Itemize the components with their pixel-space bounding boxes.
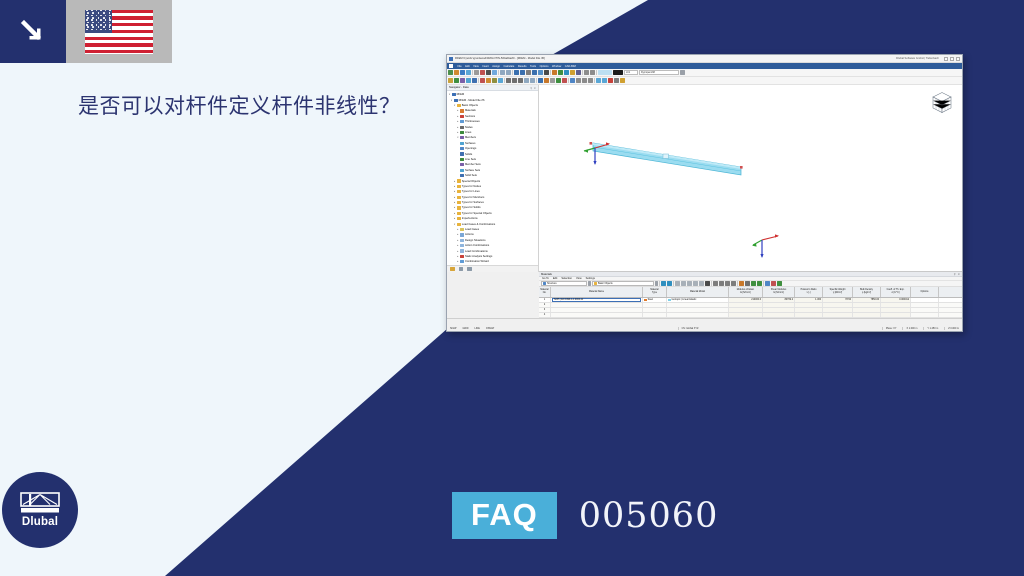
table-cell[interactable] [763,303,795,307]
toolbar2-icon-rotate[interactable] [512,78,517,83]
table-icon-export[interactable] [705,281,710,286]
menu-cadbim[interactable]: CAD-BIM [565,65,576,68]
table-icon-prev[interactable] [719,281,724,286]
navigator-item-icon [457,212,461,215]
toolbar-icon-printpreview[interactable] [480,70,485,75]
toolbar2-icon-member[interactable] [460,78,465,83]
table-cell[interactable] [551,313,643,317]
navigator-item-icon [454,99,458,102]
toolbar2-icon-osnap[interactable] [588,78,593,83]
toolbar2-icon-section[interactable] [538,78,543,83]
menu-results[interactable]: Results [518,65,527,68]
grid-column-header[interactable]: MaterialType [643,287,667,297]
toolbar-icon-new[interactable] [448,70,453,75]
navigator-item-label: Types for Nodes [462,185,481,188]
toolbar2-icon-snap[interactable] [576,78,581,83]
navigator-item-label: Line Sets [465,158,476,161]
navigator-item-icon [460,158,464,161]
expander-icon[interactable]: ▸ [453,212,456,215]
navigator-item-label: Types for Lines [462,190,480,193]
expander-icon[interactable]: ▾ [453,104,456,107]
close-icon[interactable]: ✕ [534,86,536,90]
table-menu-settings[interactable]: Settings [586,277,595,280]
menu-options[interactable]: Options [540,65,549,68]
table-icon-next[interactable] [725,281,730,286]
status-x: X 1.000 m [902,327,917,330]
toolbar2-icon-move[interactable] [506,78,511,83]
expander-icon[interactable]: ▸ [456,131,459,134]
table-icon-split[interactable] [699,281,704,286]
toolbar-icon-report[interactable] [492,70,497,75]
navigator-item-icon [457,217,461,220]
toolbar-separator [550,70,551,75]
loadcase-name-combo[interactable]: Dypropend/M [639,70,679,75]
grid-column-header[interactable]: MaterialNo. [539,287,551,297]
expander-icon[interactable]: ▸ [456,239,459,242]
grid-column-header[interactable]: Material Model [667,287,729,297]
status-grid[interactable]: GRID [463,327,469,330]
table-cell[interactable]: 78.50 [823,298,853,302]
status-y: Y 1.250 m [923,327,938,330]
table-icon-excel[interactable] [777,281,782,286]
app-statusbar: SNAP GRID LINE OSNAP CS: Global XYZ Plan… [447,318,962,331]
material-model-swatch [668,299,671,302]
navigator-item-icon [460,169,464,172]
expander-icon[interactable]: ▸ [453,190,456,193]
navigator-item-icon [460,152,464,155]
navigator-item-icon [457,201,461,204]
toolbar2-icon-visibility[interactable] [596,78,601,83]
toolbar2-icon-nodal-load[interactable] [498,78,503,83]
table-cell[interactable] [729,308,763,312]
navigator-item-label: Static Analysis Settings [465,255,492,258]
expander-icon[interactable]: ▸ [456,244,459,247]
menu-insert[interactable]: Insert [482,65,489,68]
navigator-item-icon [460,126,464,129]
toolbar2-icon-ortho[interactable] [582,78,587,83]
navigator-item-icon [460,239,464,242]
object-type-value: Structure [547,282,557,285]
navigator-item-icon [460,244,464,247]
global-axis-triad [751,233,781,260]
grid-column-header[interactable]: Comment [939,287,963,297]
toolbar-icon-wireframe[interactable] [538,70,543,75]
table-cell[interactable] [763,308,795,312]
faq-badge: FAQ [452,492,557,539]
grid-column-header[interactable]: Coeff. of Th. Exp.α [1/°C] [881,287,911,297]
expander-icon[interactable]: ▸ [456,250,459,253]
navigator-item-label: Member Sets [465,163,481,166]
app-title-text: RFEM 6 [work:\gruntwood\00/0LOTIN-5/DiaD… [455,57,894,60]
table-icon-edit-row[interactable] [739,281,744,286]
table-menu-selection[interactable]: Selection [561,277,572,280]
table-cell[interactable] [881,303,911,307]
grid-column-header[interactable]: Bulk Densityρ [kg/m³] [853,287,881,297]
object-set-dropdown-icon[interactable] [655,281,658,286]
navigator-item-icon [457,206,461,209]
toolbar-icon-measure[interactable] [584,70,589,75]
table-cell[interactable] [643,303,667,307]
toolbar-icon-view-top[interactable] [526,70,531,75]
grid-column-header[interactable]: Specific Weightγ [kN/m³] [823,287,853,297]
table-icon-last[interactable] [731,281,736,286]
toolbar-icon-saveas[interactable] [466,70,471,75]
dlubal-logo: Dlubal [2,472,78,548]
table-cell[interactable]: 3 [539,308,551,312]
table-cell[interactable]: 2 [539,303,551,307]
toolbar-icon-calculate[interactable] [552,70,557,75]
navigator-item-label: Types for Surfaces [462,201,484,204]
toolbar-separator [512,70,513,75]
minimize-button[interactable] [944,57,948,61]
expander-icon[interactable]: ▸ [456,126,459,129]
grid-header-row: MaterialNo.Material NameMaterialTypeMate… [539,287,962,298]
toolbar2-icon-properties[interactable] [614,78,619,83]
navigator-item-label: Load Cases [465,228,479,231]
expander-icon[interactable]: ▸ [456,115,459,118]
toolbar2-icon-hinge[interactable] [486,78,491,83]
table-cell[interactable] [643,308,667,312]
navigator-item-icon [460,147,464,150]
app-icon [449,57,453,61]
table-cell[interactable] [911,298,939,302]
table-cell[interactable] [853,303,881,307]
navigator-item-label: Solids [465,153,472,156]
navigator-item-label: Imperfections [462,217,478,220]
table-icon-new-row[interactable] [751,281,756,286]
menu-tools[interactable]: Tools [530,65,536,68]
toolbar-icon-save[interactable] [460,70,465,75]
toolbar-icon-results[interactable] [558,70,563,75]
table-icon-print[interactable] [771,281,776,286]
object-set-value: Basic Objects [598,282,613,285]
table-cell[interactable]: 1.300 [795,298,823,302]
toolbar-icon-view-front[interactable] [520,70,525,75]
table-cell[interactable] [939,298,963,302]
navigator-item-label: Surfaces [465,142,475,145]
beam-member-graphic[interactable] [579,137,749,198]
table-cell[interactable] [551,308,643,312]
table-cell[interactable] [939,313,963,317]
table-cell[interactable] [667,308,729,312]
navigator-item-label: Solid Sets [465,174,477,177]
app-workarea: Navigator - Data ⚲ ✕ ▾ RFEM ▾RFEM - Mode… [447,85,962,272]
table-cell[interactable]: S235 | EN 1993-1-1:2004-11 [551,298,643,302]
table-icon-duplicate-row[interactable] [757,281,762,286]
expander-icon[interactable]: ▸ [453,206,456,209]
toolbar-separator [472,70,473,75]
expander-icon[interactable]: ▸ [453,201,456,204]
navigator-item-label: Basic Objects [462,104,478,107]
table-cell[interactable]: 7850.00 [853,298,881,302]
rfem-icon [452,93,456,96]
material-name-input[interactable]: S235 | EN 1993-1-1:2004-11 [552,298,641,302]
table-cell[interactable] [881,308,911,312]
navigator-item-label: Lines [465,131,471,134]
navigator-item-icon [460,109,464,112]
table-cell[interactable] [729,313,763,317]
navigator-item-icon [457,104,461,107]
expander-icon[interactable]: ▸ [456,109,459,112]
toolbar2-icon-copy[interactable] [524,78,529,83]
toolbar-separator [504,78,505,83]
navigator-item-icon [457,185,461,188]
navigator-item-icon [460,142,464,145]
close-button[interactable] [956,57,960,61]
toolbar-icon-redo[interactable] [506,70,511,75]
flag-tile [66,0,172,63]
status-snap[interactable]: SNAP [450,327,457,330]
table-cell[interactable] [823,303,853,307]
navigator-item-icon [460,115,464,118]
navigator-item-icon [460,228,464,231]
table-cell[interactable] [643,313,667,317]
load-case-combo[interactable]: LC1 [624,70,638,75]
table-cell[interactable] [853,313,881,317]
expander-icon[interactable]: ▸ [453,196,456,199]
table-cell[interactable] [939,303,963,307]
toolbar2-icon-line[interactable] [454,78,459,83]
toolbar-row-2[interactable] [447,77,962,85]
toolbar-icon-undo[interactable] [500,70,505,75]
view-cube-icon[interactable] [929,90,955,116]
navigator-item-icon [460,260,464,263]
expander-icon[interactable]: ▸ [453,217,456,220]
maximize-button[interactable] [950,57,954,61]
table-menu-edit[interactable]: Edit [553,277,557,280]
toolbar-color-swatch[interactable] [598,70,612,75]
toolbar-separator [568,78,569,83]
grid-column-header[interactable]: Modulus of Elast.E [N/mm²] [729,287,763,297]
navigator-item-icon [457,179,461,182]
toolbar-icon-zoom[interactable] [570,70,575,75]
pin-icon[interactable]: ⚲ [530,86,532,90]
table-icon-grid-toggle[interactable] [687,281,692,286]
table-cell[interactable] [795,303,823,307]
status-osnap[interactable]: OSNAP [486,327,494,330]
toolbar2-icon-load[interactable] [492,78,497,83]
table-cell[interactable]: 0.000012 [881,298,911,302]
rfem-application-window: RFEM 6 [work:\gruntwood\00/0LOTIN-5/DiaD… [446,54,963,332]
table-panel: Materials ⚲ ✕ Go To Edit Selection View … [539,271,962,317]
table-cell[interactable] [667,313,729,317]
navigator-footer[interactable] [447,265,538,272]
toolbar2-icon-settings[interactable] [570,78,575,83]
table-cell[interactable] [881,313,911,317]
toolbar2-icon-solid[interactable] [472,78,477,83]
expander-icon[interactable]: ▸ [456,260,459,263]
expander-icon[interactable]: ▾ [456,136,459,139]
toolbar-icon-render[interactable] [532,70,537,75]
menu-calculate[interactable]: Calculate [504,65,515,68]
navigator-item-label: Load Combinations [465,250,488,253]
navigator-item-label: Openings [465,147,476,150]
table-icon-find[interactable] [661,281,666,286]
grid-column-header[interactable]: Material Name [551,287,643,297]
window-controls[interactable] [944,57,960,61]
table-menu-view[interactable]: View [576,277,582,280]
toolbar-icon-view-iso[interactable] [514,70,519,75]
table-menu-goto[interactable]: Go To [542,277,549,280]
table-cell[interactable] [795,313,823,317]
table-cell[interactable]: Steel [643,298,667,302]
table-cell[interactable]: Isotropic | Linear Elastic [667,298,729,302]
table-cell[interactable] [911,303,939,307]
navigator-item-icon [457,196,461,199]
nav-foot-icon-display[interactable] [459,267,464,272]
table-cell[interactable] [729,303,763,307]
toolbar-icon-grid[interactable] [544,70,549,75]
table-pin-icon[interactable]: ⚲ [954,272,956,276]
expander-icon[interactable]: ▸ [456,228,459,231]
navigator-item-icon [460,174,464,177]
toolbar-separator [594,78,595,83]
menu-assign[interactable]: Assign [492,65,500,68]
navigator-item-label: Types for Special Objects [462,212,492,215]
model-viewport[interactable] [539,85,962,272]
table-cell[interactable] [853,308,881,312]
grid-column-header[interactable]: Shear ModulusG [N/mm²] [763,287,795,297]
toolbar2-icon-node[interactable] [448,78,453,83]
status-plane: Plane: XY [882,327,897,330]
status-cs: CS: Global XYZ [678,327,699,330]
faq-number: 005060 [579,496,719,536]
table-icon-merge[interactable] [693,281,698,286]
toolbar-separator [536,78,537,83]
toolbar2-icon-support[interactable] [480,78,485,83]
toolbar-icon-pan[interactable] [576,70,581,75]
navigator-item-label: RFEM - Model File.rf6 [459,99,485,102]
toolbar-separator [498,70,499,75]
expander-icon[interactable]: ▾ [450,99,453,102]
toolbar-icon-printer[interactable] [486,70,491,75]
table-cell[interactable]: 4 [539,313,551,317]
menu-window[interactable]: Window [552,65,561,68]
table-cell[interactable] [911,308,939,312]
navigator-item-icon [460,249,464,252]
navigator-item-label: Load Cases & Combinations [462,223,495,226]
page-title: 是否可以对杆件定义杆件非线性？ [78,92,438,120]
navigator-item-icon [460,136,464,139]
table-icon-first[interactable] [713,281,718,286]
toolbar2-icon-material[interactable] [544,78,549,83]
toolbar2-icon-array[interactable] [530,78,535,83]
object-type-dropdown-icon[interactable] [588,281,591,286]
table-cell[interactable] [551,303,643,307]
toolbar-icon-open[interactable] [454,70,459,75]
grid-column-header[interactable]: Options [911,287,939,297]
navigator-item-label: Types for Members [462,196,485,199]
table-cell[interactable] [939,308,963,312]
toolbar2-icon-delete[interactable] [608,78,613,83]
table-cell[interactable] [795,308,823,312]
table-cell[interactable] [763,313,795,317]
toolbar-icon-dimension[interactable] [590,70,595,75]
table-icon-insert-row[interactable] [745,281,750,286]
toolbar-dark-swatch[interactable] [613,70,623,75]
navigator-item-icon [460,120,464,123]
us-flag-icon [85,10,153,54]
structure-icon [543,282,546,285]
expander-icon[interactable]: ▾ [453,223,456,226]
arrow-down-right-icon [18,17,48,47]
toolbar2-icon-imperfection[interactable] [562,78,567,83]
toolbar2-icon-surface[interactable] [466,78,471,83]
navigator-item-label: Nodes [465,126,473,129]
table-icon-filter[interactable] [667,281,672,286]
toolbar2-icon-thickness[interactable] [550,78,555,83]
toolbar-icon-search[interactable] [564,70,569,75]
navigator-item-label: Thicknesses [465,120,480,123]
dlubal-logo-text: Dlubal [22,516,58,528]
table-icon-columns[interactable] [675,281,680,286]
table-icon-rows[interactable] [681,281,686,286]
table-cell[interactable] [911,313,939,317]
table-cell[interactable]: 1 [539,298,551,302]
nav-foot-icon-data[interactable] [450,267,455,272]
table-cell[interactable] [667,303,729,307]
toolbar-icon-print[interactable] [474,70,479,75]
toolbar2-icon-layers[interactable] [602,78,607,83]
table-icon-refresh[interactable] [765,281,770,286]
arrow-badge [0,0,66,63]
menu-file[interactable]: File [458,65,462,68]
object-set-select[interactable]: Basic Objects [592,281,654,286]
toolbar2-icon-info[interactable] [620,78,625,83]
navigator-item-label: Action Combinations [465,244,489,247]
expander-icon[interactable]: ▸ [456,255,459,258]
toolbar2-icon-mirror[interactable] [518,78,523,83]
navigator-tree[interactable]: ▾ RFEM ▾RFEM - Model File.rf6▾Basic Obje… [447,91,538,265]
expander-icon[interactable]: ▸ [456,120,459,123]
grid-column-header[interactable]: Poisson's Ratioν [-] [795,287,823,297]
table-cell[interactable]: 80769.2 [763,298,795,302]
table-close-icon[interactable]: ✕ [958,272,960,276]
navigator-item-label: Materials [465,109,476,112]
table-panel-title: Materials [541,273,552,276]
object-type-select[interactable]: Structure [541,281,587,286]
app-company-text: Dlubal Software GmbH | Tiefenbach [896,57,939,60]
basic-objects-icon [594,282,597,285]
nav-foot-icon-views[interactable] [467,267,472,272]
navigator-item-label: Combination Wizard [465,260,489,263]
table-cell[interactable] [823,313,853,317]
table-cell[interactable] [823,308,853,312]
toolbar-icon-dropdown[interactable] [680,70,685,75]
expander-icon[interactable]: ▸ [453,185,456,188]
toolbar-row-1[interactable]: LC1 Dypropend/M [447,69,962,77]
toolbar2-icon-mesh[interactable] [556,78,561,83]
navigator-item-label: Actions [465,233,474,236]
expander-icon[interactable]: ▸ [456,233,459,236]
navigator-item-label: Types for Solids [462,206,481,209]
menubar-logo-icon [449,64,453,68]
navigator-item-icon [457,223,461,226]
navigator-item-icon [457,190,461,193]
navigator-title: Navigator - Data [449,86,469,89]
table-cell[interactable]: 210000.0 [729,298,763,302]
toolbar-separator [582,70,583,75]
navigator-root-label: RFEM [457,93,464,96]
menu-edit[interactable]: Edit [465,65,469,68]
navigator-item-label: Special Objects [462,180,480,183]
menu-view[interactable]: View [473,65,479,68]
app-titlebar: RFEM 6 [work:\gruntwood\00/0LOTIN-5/DiaD… [447,55,962,63]
material-type-swatch [644,299,647,302]
faq-row: FAQ 005060 [452,492,718,539]
expander-icon[interactable]: ▸ [453,180,456,183]
status-line[interactable]: LINE [475,327,480,330]
